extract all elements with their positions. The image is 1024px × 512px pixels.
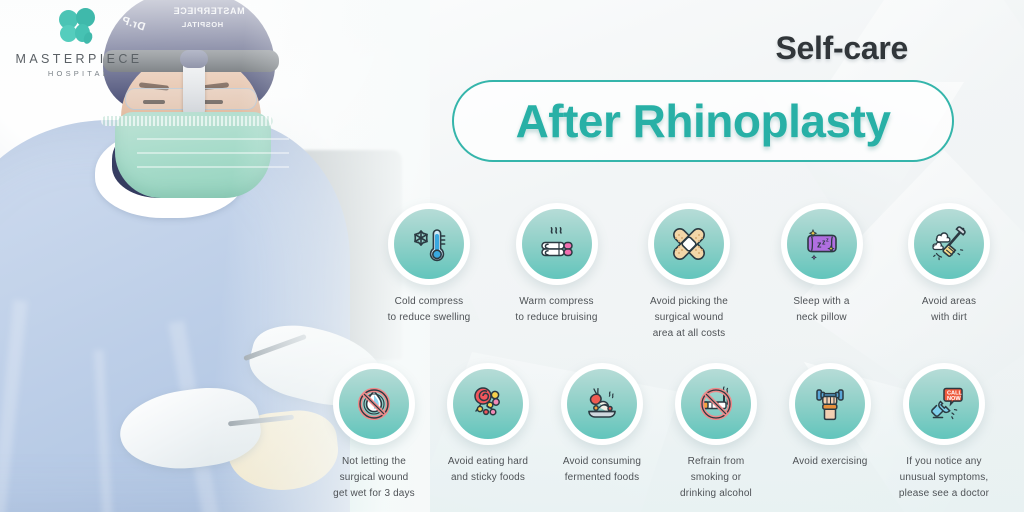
title-pill: After Rhinoplasty — [452, 80, 954, 162]
tip-caption: Not letting the surgical wound get wet f… — [333, 454, 415, 502]
no-water-droplet-icon — [352, 382, 396, 426]
icon-disc: z z z — [787, 209, 857, 279]
eyebrow-heading: Self-care — [776, 30, 909, 67]
icon-disc — [567, 369, 637, 439]
lollipop-candy-icon — [466, 382, 510, 426]
tip-card-keep-dry[interactable]: Not letting the surgical wound get wet f… — [319, 363, 429, 502]
icon-bubble — [561, 363, 643, 445]
icon-bubble — [789, 363, 871, 445]
tip-card-avoid-dirt[interactable]: Avoid areas with dirt — [899, 203, 999, 342]
tip-caption: Warm compress to reduce bruising — [515, 294, 597, 326]
icon-bubble — [908, 203, 990, 285]
icon-bubble — [447, 363, 529, 445]
brand-name: MASTERPIECE — [14, 52, 144, 66]
icon-disc — [522, 209, 592, 279]
tip-card-see-doctor[interactable]: CALL NOW If you notice any unusual sympt… — [889, 363, 999, 502]
fermented-food-plate-icon — [580, 382, 624, 426]
icon-bubble: z z z — [781, 203, 863, 285]
svg-text:z: z — [826, 238, 829, 244]
crossed-bandages-icon — [667, 222, 711, 266]
page-title: After Rhinoplasty — [516, 94, 891, 148]
tip-caption: Sleep with a neck pillow — [793, 294, 849, 326]
broom-dust-icon — [927, 222, 971, 266]
icon-disc — [453, 369, 523, 439]
warm-towel-steam-icon — [535, 222, 579, 266]
icon-disc — [914, 209, 984, 279]
icon-bubble — [648, 203, 730, 285]
tip-caption: Avoid areas with dirt — [922, 294, 976, 326]
tip-card-avoid-hard-foods[interactable]: Avoid eating hard and sticky foods — [433, 363, 543, 502]
icon-bubble — [333, 363, 415, 445]
icon-disc — [654, 209, 724, 279]
no-smoking-icon — [694, 382, 738, 426]
icon-bubble — [388, 203, 470, 285]
infographic-canvas: MASTERPIECE HOSPITAL Dr.P — [0, 0, 1024, 512]
icon-disc — [681, 369, 751, 439]
icon-bubble: CALL NOW — [903, 363, 985, 445]
tip-caption: Avoid consuming fermented foods — [563, 454, 641, 486]
tip-card-warm-compress[interactable]: Warm compress to reduce bruising — [507, 203, 607, 342]
brand-subtitle: HOSPITAL — [14, 69, 144, 78]
tips-row-2: Not letting the surgical wound get wet f… — [319, 363, 999, 502]
brand-logo: MASTERPIECE HOSPITAL — [14, 8, 144, 78]
tip-card-avoid-picking[interactable]: Avoid picking the surgical wound area at… — [634, 203, 744, 342]
sleeping-pillow-zzz-icon: z z z — [800, 222, 844, 266]
tip-card-no-smoking-alcohol[interactable]: Refrain from smoking or drinking alcohol — [661, 363, 771, 502]
tip-caption: Cold compress to reduce swelling — [388, 294, 471, 326]
tip-card-avoid-exercise[interactable]: Avoid exercising — [775, 363, 885, 502]
icon-disc — [394, 209, 464, 279]
call-now-phone-icon: CALL NOW — [922, 382, 966, 426]
tip-caption: Avoid exercising — [792, 454, 867, 470]
tip-card-neck-pillow[interactable]: z z z Sleep with a neck pillow — [772, 203, 872, 342]
thermometer-snowflake-icon — [407, 222, 451, 266]
tip-caption: Refrain from smoking or drinking alcohol — [680, 454, 752, 502]
icon-bubble — [675, 363, 757, 445]
icon-disc — [339, 369, 409, 439]
butterfly-cross-logo-icon — [57, 8, 101, 48]
tip-card-avoid-fermented[interactable]: Avoid consuming fermented foods — [547, 363, 657, 502]
icon-disc — [795, 369, 865, 439]
tips-row-1: Cold compress to reduce swelling — [379, 203, 999, 342]
tip-caption: If you notice any unusual symptoms, plea… — [899, 454, 989, 502]
icon-disc: CALL NOW — [909, 369, 979, 439]
tip-card-cold-compress[interactable]: Cold compress to reduce swelling — [379, 203, 479, 342]
svg-text:NOW: NOW — [947, 396, 961, 402]
tip-caption: Avoid eating hard and sticky foods — [448, 454, 528, 486]
dumbbell-hand-icon — [808, 382, 852, 426]
tip-caption: Avoid picking the surgical wound area at… — [650, 294, 728, 342]
icon-bubble — [516, 203, 598, 285]
